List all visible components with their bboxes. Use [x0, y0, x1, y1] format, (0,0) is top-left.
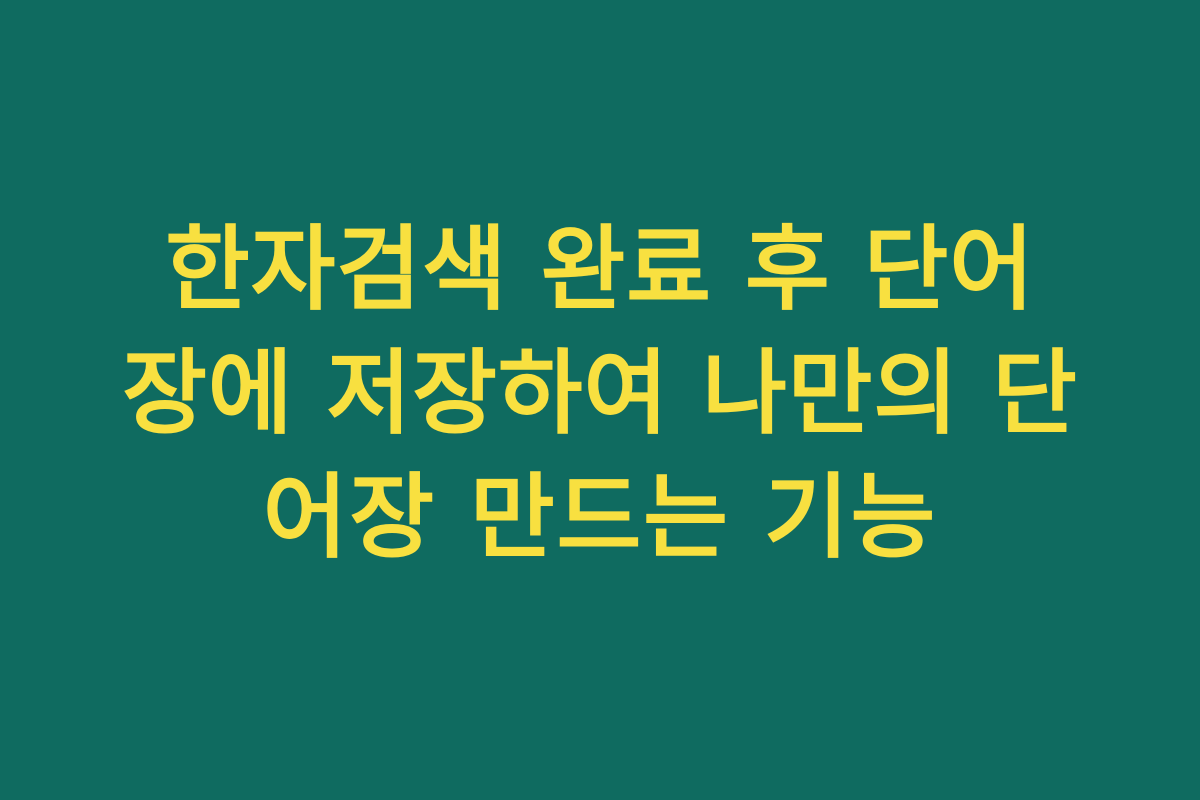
headline-line-1: 한자검색 완료 후 단어 — [80, 208, 1120, 332]
headline-block: 한자검색 완료 후 단어 장에 저장하여 나만의 단 어장 만드는 기능 — [80, 208, 1120, 580]
banner-card: 한자검색 완료 후 단어 장에 저장하여 나만의 단 어장 만드는 기능 한자검… — [0, 0, 1200, 800]
headline-line-2: 장에 저장하여 나만의 단 — [80, 332, 1120, 456]
headline-line-3: 어장 만드는 기능 — [80, 456, 1120, 580]
